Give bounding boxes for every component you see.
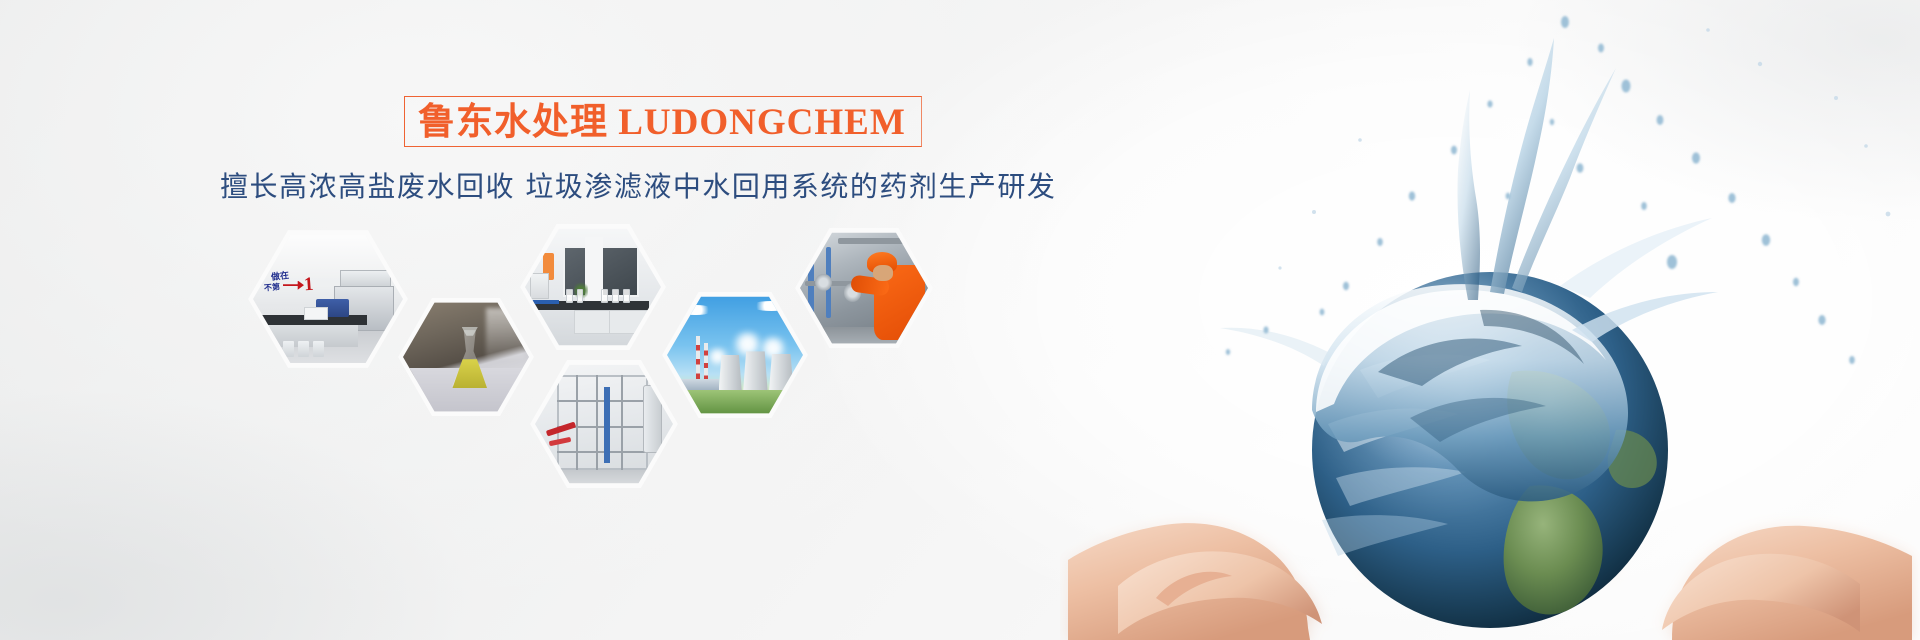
hexagon-image-power-plant-cooling-towers[interactable] [662, 290, 808, 420]
horizontal-rail [557, 400, 648, 402]
banner-text-block: 鲁东水处理 LUDONGCHEM 擅长高浓高盐废水回收 垃圾渗滤液中水回用系统的… [214, 96, 1004, 205]
overhead-beam [838, 238, 910, 244]
factory-floor [535, 468, 673, 485]
hexagon-image-industrial-piping-rack[interactable] [530, 358, 678, 490]
cooling-tower [719, 355, 742, 391]
reagent-jug [298, 341, 309, 357]
brand-title: 鲁东水处理 LUDONGCHEM [418, 102, 906, 143]
cloud [678, 305, 713, 316]
glassware [612, 289, 619, 302]
side-cabinet [530, 273, 549, 299]
glassware [601, 289, 608, 302]
vertical-pipe [621, 375, 623, 470]
wall-slogan-line1: 做在 [270, 268, 289, 283]
water-globe-hands-artwork [1060, 0, 1920, 640]
water-droplets-far [1278, 28, 1890, 269]
reagent-jug [313, 341, 324, 357]
glassware [623, 289, 630, 302]
glassware [566, 289, 573, 302]
white-instrument [304, 307, 328, 320]
hexagon-image-laboratory-room[interactable]: 做在 不第 1 [248, 228, 408, 370]
water-splash-svg [1060, 0, 1920, 640]
hexagon-image-yellow-reagent-flask[interactable] [398, 296, 534, 418]
cloud [751, 301, 792, 311]
horizontal-rail [557, 451, 648, 453]
brand-title-frame: 鲁东水处理 LUDONGCHEM [404, 96, 922, 147]
banner-subtitle: 擅长高浓高盐废水回收 垃圾渗滤液中水回用系统的药剂生产研发 [220, 165, 1004, 205]
vertical-pipe [596, 375, 598, 470]
blue-riser [604, 387, 610, 463]
vertical-pipe [576, 375, 578, 470]
wall-slogan-line2: 不第 [263, 281, 280, 293]
splash-arm-left [1220, 328, 1328, 366]
glassware [577, 289, 584, 302]
wall-slogan-number: 1 [303, 274, 314, 297]
banner-stage: 鲁东水处理 LUDONGCHEM 擅长高浓高盐废水回收 垃圾渗滤液中水回用系统的… [0, 0, 1920, 640]
water-jet [1490, 38, 1554, 294]
splash-arm-upper-right [1560, 218, 1712, 298]
hexagon-image-worker-orange-uniform[interactable] [795, 226, 933, 350]
hexagon-image-lab-glassware-fumehood[interactable] [520, 222, 666, 352]
cooling-tower [743, 351, 767, 391]
red-arrow-icon [283, 281, 304, 290]
worker-face [873, 265, 893, 281]
water-jet-tertiary [1457, 90, 1480, 300]
